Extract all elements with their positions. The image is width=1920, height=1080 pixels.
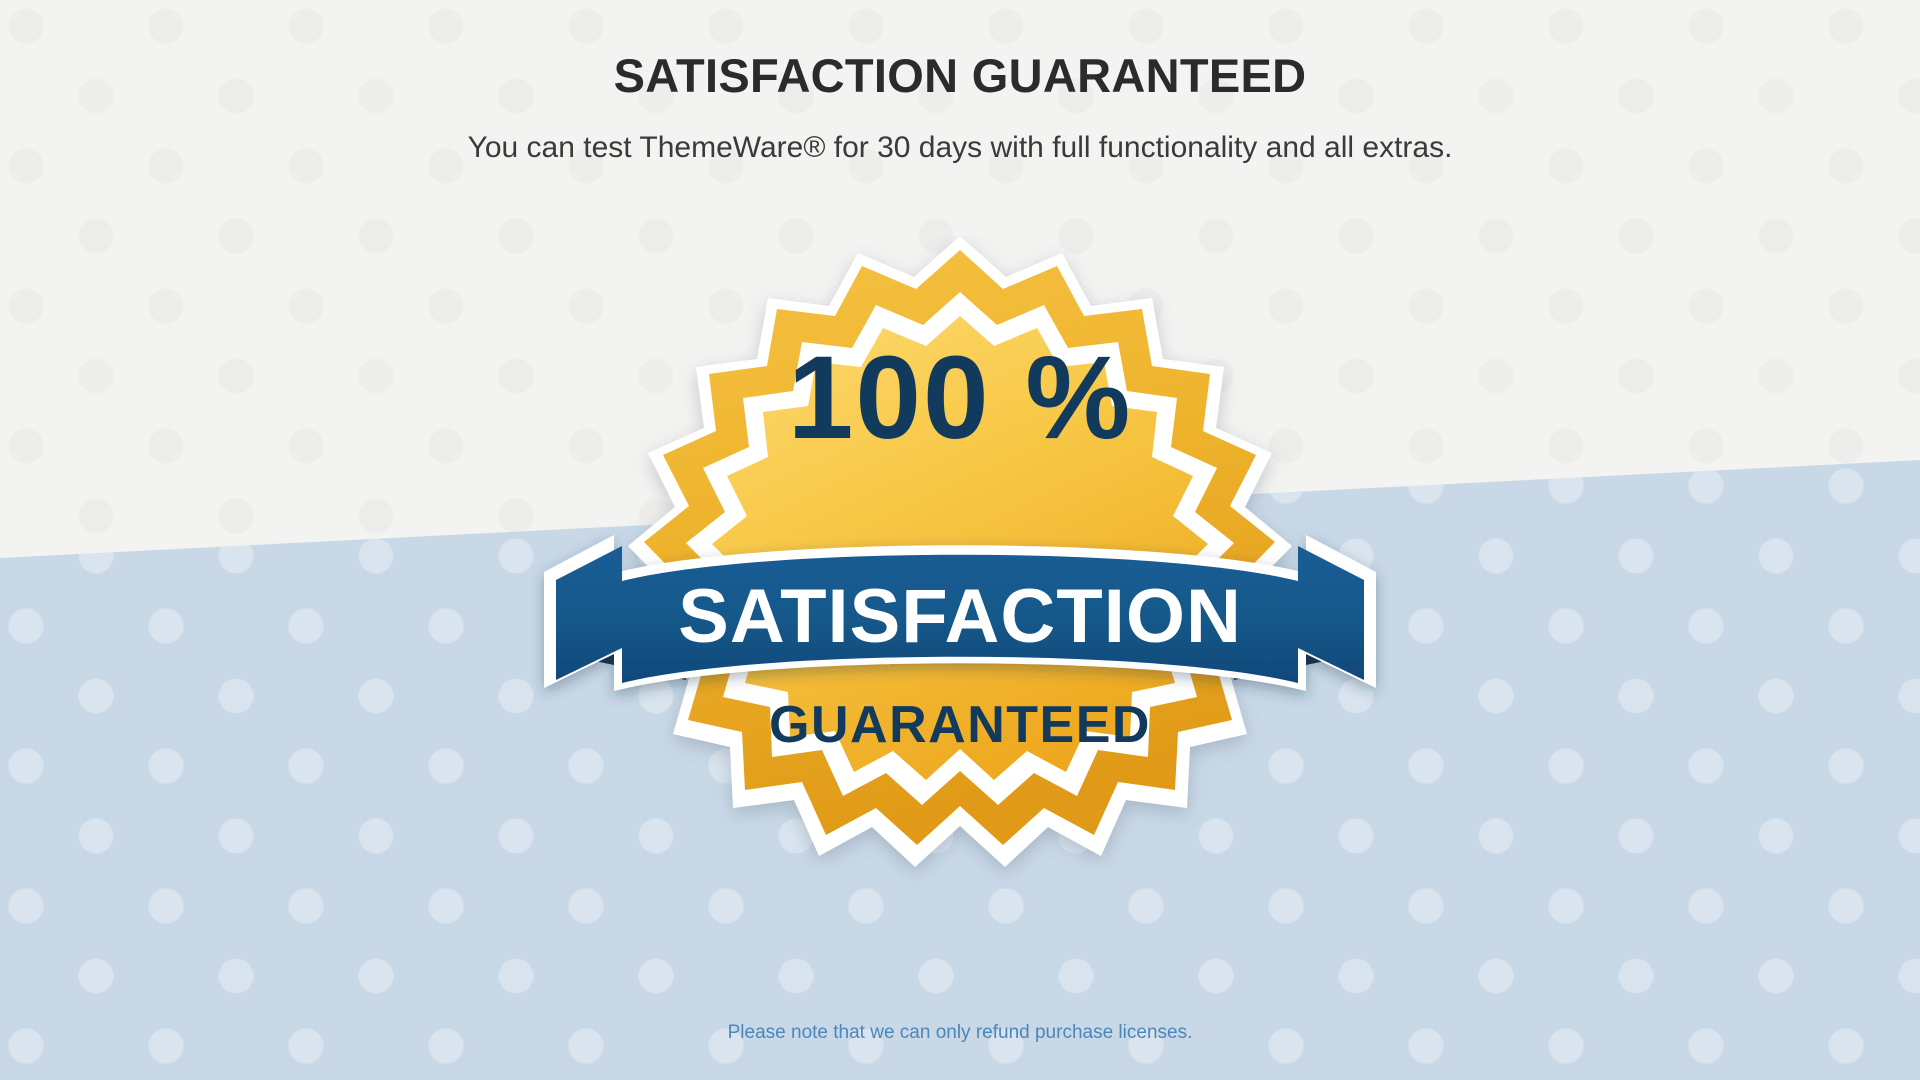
page-subtitle: You can test ThemeWare® for 30 days with…: [0, 103, 1920, 165]
seal-percent-text: 100 %: [788, 332, 1133, 464]
seal-bottom-text: GUARANTEED: [769, 696, 1151, 754]
seal-ribbon-text: SATISFACTION: [678, 574, 1242, 659]
refund-note: Please note that we can only refund purc…: [0, 1022, 1920, 1044]
header: SATISFACTION GUARANTEED You can test The…: [0, 0, 1920, 165]
satisfaction-guarantee-badge: 100 % SATISFACTION GUARANTEED: [530, 236, 1390, 908]
seal-graphic: 100 % SATISFACTION GUARANTEED: [530, 236, 1390, 908]
page-title: SATISFACTION GUARANTEED: [0, 0, 1920, 103]
